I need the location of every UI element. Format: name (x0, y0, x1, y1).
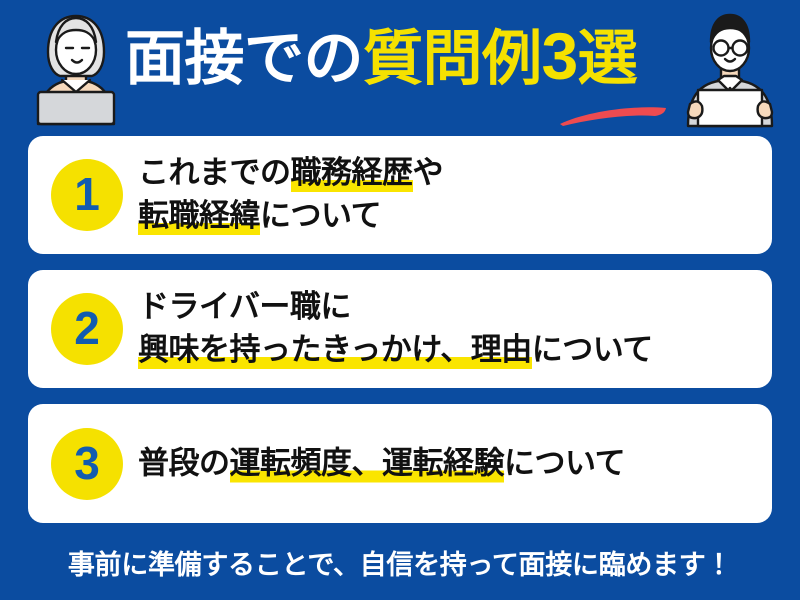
question-number-badge-2: 2 (51, 293, 123, 365)
red-brush-underline-icon (557, 101, 669, 127)
text-segment: これまでの (138, 155, 291, 191)
question-line: 転職経緯について (138, 195, 756, 238)
text-segment: について (532, 332, 653, 368)
highlighted-segment: 運転頻度、運転経験 (230, 445, 505, 482)
text-segment: 普段の (138, 445, 230, 481)
question-line: ドライバー職に (138, 286, 756, 329)
question-text-3: 普段の運転頻度、運転経験について (138, 442, 756, 485)
footer-banner: 事前に準備することで、自信を持って面接に臨めます！ (0, 532, 800, 600)
highlighted-segment: 職務経歴 (291, 155, 413, 192)
question-card-3[interactable]: 3 普段の運転頻度、運転経験について (28, 404, 772, 523)
question-line: これまでの職務経歴や (138, 152, 756, 195)
man-with-document-illustration (674, 8, 786, 128)
title-part-yellow-tail: 選 (578, 24, 638, 94)
question-number-3: 3 (74, 440, 100, 486)
question-text-2: ドライバー職に 興味を持ったきっかけ、理由について (138, 286, 756, 372)
text-segment: や (413, 155, 444, 191)
question-number-2: 2 (74, 305, 100, 351)
question-number-badge-3: 3 (51, 428, 123, 500)
woman-with-laptop-illustration (22, 8, 130, 126)
title-block: 面接での質問例3選 (125, 13, 677, 123)
question-number-badge-1: 1 (51, 159, 123, 231)
question-line: 普段の運転頻度、運転経験について (138, 442, 756, 485)
title-part-number: 3 (542, 19, 578, 93)
title-part-white: 面接での (125, 24, 363, 94)
header-banner: 面接での質問例3選 (0, 0, 800, 132)
highlighted-segment: 興味を持ったきっかけ、理由 (138, 332, 532, 369)
footer-message: 事前に準備することで、自信を持って面接に臨めます！ (68, 549, 732, 583)
question-number-1: 1 (74, 171, 100, 217)
text-segment: について (504, 445, 625, 481)
text-segment: ドライバー職に (138, 289, 351, 325)
question-card-1[interactable]: 1 これまでの職務経歴や 転職経緯について (28, 136, 772, 254)
question-line: 興味を持ったきっかけ、理由について (138, 329, 756, 372)
text-segment: について (260, 198, 381, 234)
question-text-1: これまでの職務経歴や 転職経緯について (138, 152, 756, 238)
infographic-poster: 面接での質問例3選 (0, 0, 800, 600)
poster-title: 面接での質問例3選 (125, 19, 677, 96)
question-card-2[interactable]: 2 ドライバー職に 興味を持ったきっかけ、理由について (28, 270, 772, 388)
highlighted-segment: 転職経緯 (138, 198, 260, 235)
title-part-yellow: 質問例 (363, 24, 542, 94)
